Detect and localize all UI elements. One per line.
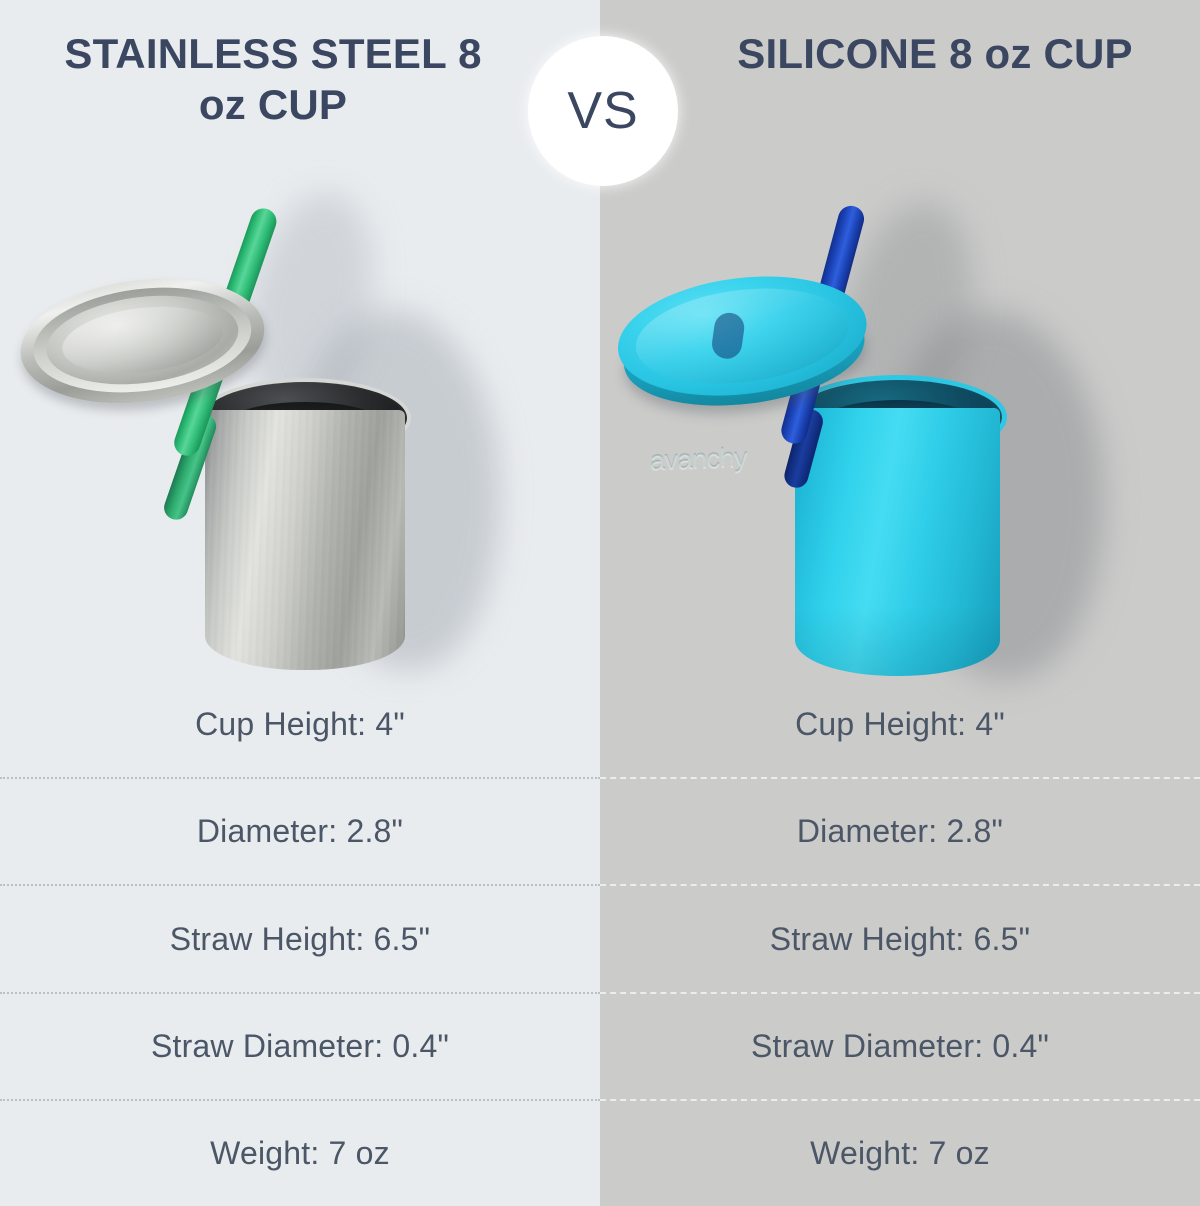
spec-row: Straw Height: 6.5" [600, 884, 1200, 991]
spec-row: Straw Diameter: 0.4" [600, 992, 1200, 1099]
spec-row: Weight: 7 oz [0, 1099, 600, 1206]
left-product-title: STAINLESS STEEL 8 oz CUP [38, 28, 508, 130]
left-spec-column: Cup Height: 4" Diameter: 2.8" Straw Heig… [0, 672, 600, 1206]
silicone-cup-body [795, 408, 1000, 676]
spec-row: Weight: 7 oz [600, 1099, 1200, 1206]
spec-row: Diameter: 2.8" [600, 777, 1200, 884]
spec-row: Straw Height: 6.5" [0, 884, 600, 991]
right-product-title: SILICONE 8 oz CUP [700, 28, 1170, 79]
steel-cup-body [205, 410, 405, 670]
product-comparison-infographic: STAINLESS STEEL 8 oz CUP SILICONE 8 oz C… [0, 0, 1200, 1206]
right-spec-column: Cup Height: 4" Diameter: 2.8" Straw Heig… [600, 672, 1200, 1206]
silicone-cup-image: avanchy [600, 160, 1200, 690]
vs-badge: VS [528, 36, 678, 186]
spec-row: Cup Height: 4" [0, 672, 600, 777]
spec-row: Straw Diameter: 0.4" [0, 992, 600, 1099]
spec-row: Cup Height: 4" [600, 672, 1200, 777]
spec-comparison-table: Cup Height: 4" Diameter: 2.8" Straw Heig… [0, 672, 1200, 1206]
spec-row: Diameter: 2.8" [0, 777, 600, 884]
vs-label: VS [567, 85, 638, 137]
avanchy-brand-emboss: avanchy [649, 440, 760, 478]
stainless-steel-cup-image [0, 160, 600, 690]
